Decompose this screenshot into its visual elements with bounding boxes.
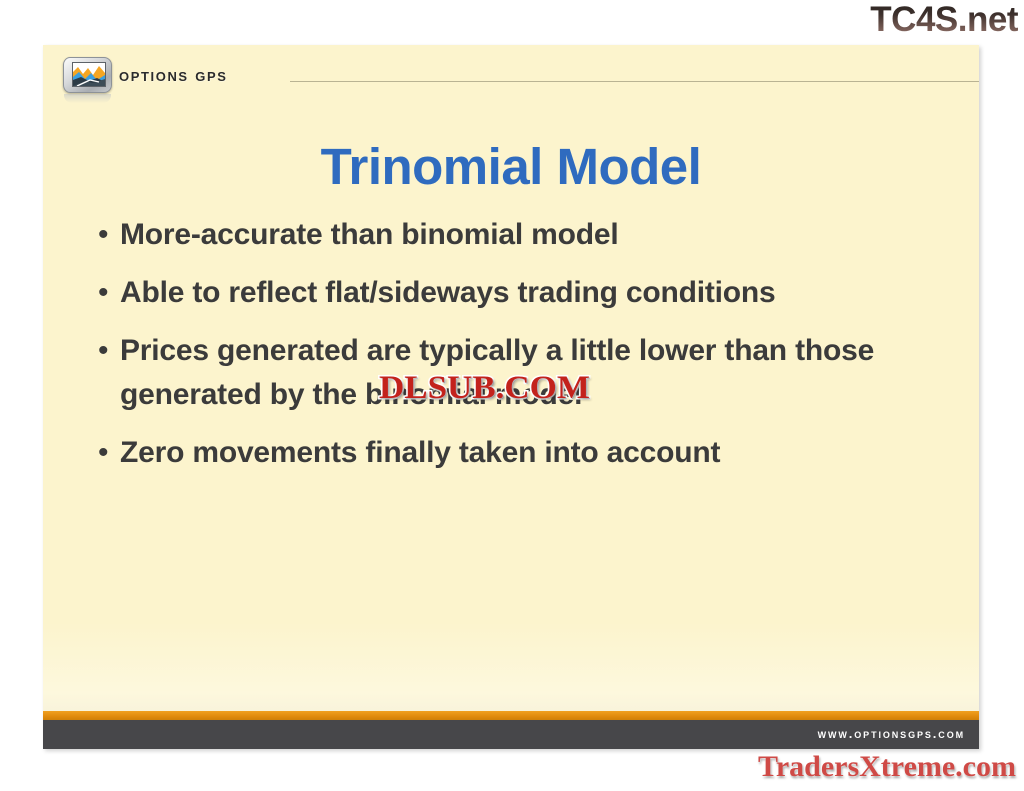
- bullet-marker-icon: •: [98, 329, 120, 373]
- tradersxtreme-watermark: TradersXtreme.com: [758, 749, 1016, 785]
- bullet-item: • More-accurate than binomial model: [98, 213, 954, 257]
- gps-device-screen: [72, 62, 106, 87]
- bullet-text: Zero movements finally taken into accoun…: [120, 431, 954, 475]
- gps-device-icon: [61, 56, 114, 96]
- slide-header: Options GPS: [43, 45, 979, 100]
- bullet-text: More-accurate than binomial model: [120, 213, 954, 257]
- footer-accent-stripe: [43, 711, 979, 720]
- brand-logo-label: Options GPS: [119, 65, 228, 86]
- header-divider: [290, 81, 979, 82]
- bullet-item: • Able to reflect flat/sideways trading …: [98, 271, 954, 315]
- footer-website-url: www.OptionsGPS.com: [818, 726, 965, 741]
- slide-title: Trinomial Model: [43, 137, 979, 197]
- bullet-list: • More-accurate than binomial model • Ab…: [98, 213, 954, 489]
- tc4s-watermark: TC4S.net: [870, 0, 1018, 40]
- gps-device-reflection: [64, 94, 111, 103]
- bullet-marker-icon: •: [98, 271, 120, 315]
- bullet-marker-icon: •: [98, 213, 120, 257]
- dlsub-watermark: DLSUB.COM: [379, 371, 590, 405]
- bullet-item: • Zero movements finally taken into acco…: [98, 431, 954, 475]
- bullet-text: Able to reflect flat/sideways trading co…: [120, 271, 954, 315]
- bullet-marker-icon: •: [98, 431, 120, 475]
- dlsub-watermark-text: DLSUB.COM: [379, 371, 590, 405]
- footer-bar: www.OptionsGPS.com: [43, 720, 979, 749]
